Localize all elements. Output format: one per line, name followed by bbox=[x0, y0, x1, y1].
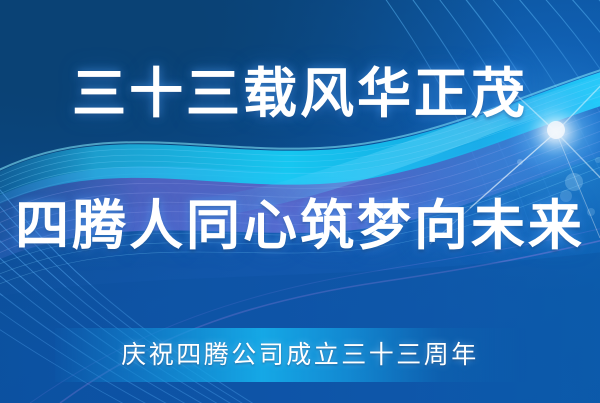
title-line-1: 三十三载风华正茂 bbox=[0, 64, 600, 124]
anniversary-banner: 三十三载风华正茂 四腾人同心筑梦向未来 庆祝四腾公司成立三十三周年 bbox=[0, 0, 600, 403]
subtitle-text: 庆祝四腾公司成立三十三周年 bbox=[0, 336, 600, 374]
title-line-2: 四腾人同心筑梦向未来 bbox=[0, 196, 600, 256]
